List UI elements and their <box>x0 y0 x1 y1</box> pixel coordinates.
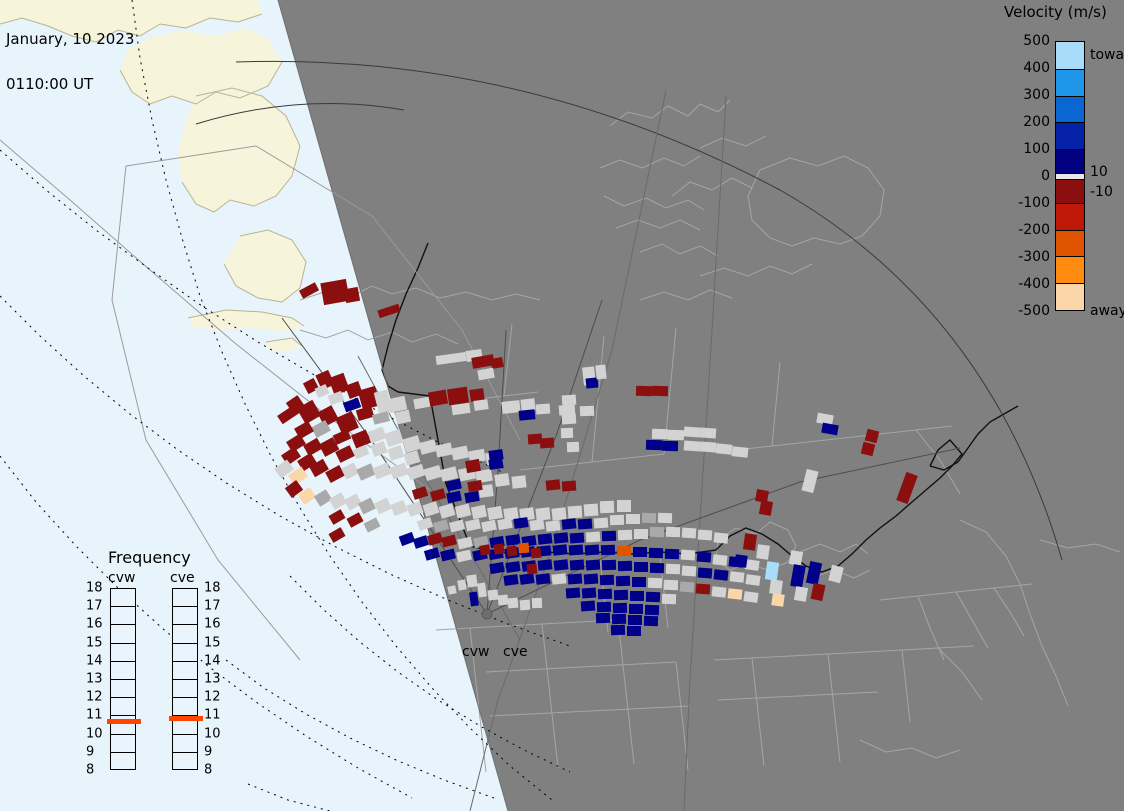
velocity-cell <box>666 564 680 574</box>
velocity-cell <box>447 387 469 406</box>
frequency-tick-right: 13 <box>204 672 221 687</box>
velocity-cell <box>668 430 684 441</box>
frequency-tick-left: 14 <box>86 653 103 668</box>
velocity-cell <box>610 515 624 525</box>
colorbar-tick-label: 400 <box>1023 60 1050 76</box>
velocity-cell <box>714 569 729 580</box>
colorbar-tick-label: 300 <box>1023 87 1050 103</box>
velocity-cell <box>568 574 583 585</box>
frequency-bar-segment <box>111 644 135 662</box>
velocity-cell <box>562 518 577 529</box>
velocity-cell <box>713 554 728 565</box>
velocity-cell <box>519 543 530 554</box>
velocity-cell <box>618 530 632 540</box>
velocity-cell <box>646 592 660 602</box>
velocity-cell <box>552 573 567 584</box>
frequency-tick-right: 8 <box>204 763 212 778</box>
velocity-cell <box>538 533 553 544</box>
velocity-cell <box>771 593 785 607</box>
velocity-cell <box>527 564 538 575</box>
velocity-cell <box>578 519 593 530</box>
frequency-bar-cvw <box>110 588 136 770</box>
velocity-cell <box>520 600 531 611</box>
colorbar-band <box>1056 230 1084 257</box>
colorbar-band <box>1056 42 1084 69</box>
frequency-tick-right: 16 <box>204 617 221 632</box>
timestamp-block: January, 10 2023 0110:00 UT <box>6 2 134 122</box>
velocity-cell <box>596 613 610 623</box>
colorbar-tick-label: -500 <box>1018 303 1050 319</box>
frequency-tick-right: 12 <box>204 690 221 705</box>
velocity-cell <box>684 440 701 451</box>
velocity-cell <box>540 438 555 449</box>
velocity-cell <box>488 590 499 601</box>
frequency-bar-segment <box>173 662 197 680</box>
frequency-bar-segment <box>173 735 197 753</box>
timestamp-date: January, 10 2023 <box>6 32 134 47</box>
colorbar-tick-label: -300 <box>1018 249 1050 265</box>
velocity-cell <box>479 544 491 556</box>
velocity-cell <box>697 552 712 563</box>
frequency-tick-left: 8 <box>86 763 94 778</box>
velocity-cell <box>535 507 550 520</box>
velocity-cell <box>598 589 612 599</box>
colorbar-band <box>1056 179 1084 203</box>
velocity-cell <box>616 576 630 586</box>
velocity-cell <box>586 560 601 571</box>
frequency-bar-segment <box>111 735 135 753</box>
velocity-cell <box>614 590 628 600</box>
velocity-cell <box>765 561 779 580</box>
colorbar-tick-label: 500 <box>1023 33 1050 49</box>
velocity-cell <box>617 546 631 556</box>
velocity-cell <box>700 427 717 438</box>
velocity-cell <box>570 560 585 571</box>
frequency-tick-left: 13 <box>86 672 103 687</box>
velocity-cell <box>662 441 678 452</box>
velocity-cell <box>488 449 503 461</box>
velocity-cell <box>594 518 609 529</box>
colorbar-band <box>1056 149 1084 173</box>
velocity-cell <box>714 532 729 543</box>
frequency-tick-left: 15 <box>86 635 103 650</box>
velocity-cell <box>562 395 577 406</box>
velocity-cell <box>581 601 596 612</box>
frequency-tick-left: 10 <box>86 726 103 741</box>
velocity-cell <box>501 400 520 414</box>
radar-site-marker <box>482 609 492 619</box>
velocity-cell <box>503 574 518 586</box>
frequency-tick-right: 10 <box>204 726 221 741</box>
frequency-bar-segment <box>111 607 135 625</box>
velocity-cell <box>585 545 600 556</box>
frequency-column-name-cvw: cvw <box>108 570 135 586</box>
frequency-bar-segment <box>111 753 135 771</box>
velocity-cell <box>684 426 701 437</box>
velocity-cell <box>529 519 544 531</box>
velocity-cell <box>511 475 526 488</box>
frequency-tick-right: 18 <box>204 581 221 596</box>
frequency-tick-right: 11 <box>204 708 221 723</box>
frequency-bar-segment <box>173 753 197 771</box>
velocity-cell <box>569 545 584 556</box>
frequency-marker-cvw <box>107 719 141 724</box>
velocity-cell <box>626 514 640 524</box>
frequency-bar-segment <box>111 698 135 716</box>
velocity-cell <box>634 529 648 539</box>
colorbar-band <box>1056 69 1084 96</box>
velocity-cell <box>519 409 536 421</box>
frequency-column-name-cve: cve <box>170 570 195 586</box>
velocity-cell <box>794 586 808 602</box>
velocity-cell <box>743 533 757 551</box>
velocity-cell <box>664 580 678 590</box>
velocity-cell <box>728 588 743 599</box>
colorbar-tick-label: -100 <box>1018 195 1050 211</box>
velocity-cell <box>716 443 733 455</box>
velocity-cell <box>636 386 652 397</box>
frequency-legend: Frequency cvw cve 1818171716161515141413… <box>80 548 250 788</box>
velocity-cell <box>561 428 573 438</box>
velocity-cell <box>457 579 467 590</box>
velocity-cell <box>600 501 614 513</box>
velocity-cell <box>680 582 695 593</box>
frequency-bar-segment <box>173 698 197 716</box>
frequency-tick-left: 12 <box>86 690 103 705</box>
velocity-cell <box>700 441 717 452</box>
velocity-cell <box>681 550 696 561</box>
velocity-cell <box>634 562 648 572</box>
velocity-cell <box>568 506 583 519</box>
velocity-cell <box>508 598 519 609</box>
velocity-cell <box>595 365 606 380</box>
colorbar-band <box>1056 122 1084 149</box>
velocity-cell <box>584 504 599 517</box>
frequency-tick-right: 15 <box>204 635 221 650</box>
velocity-cell <box>551 507 566 520</box>
velocity-cell <box>755 489 769 503</box>
velocity-cell <box>487 506 503 520</box>
velocity-cell <box>597 602 611 612</box>
velocity-cell <box>617 500 631 512</box>
velocity-cell <box>546 520 561 531</box>
velocity-cell <box>666 527 680 537</box>
velocity-cell <box>646 440 662 451</box>
velocity-cell <box>662 594 676 604</box>
frequency-tick-right: 17 <box>204 599 221 614</box>
velocity-cell <box>627 626 641 636</box>
velocity-cell <box>632 577 646 587</box>
velocity-cell <box>633 547 647 557</box>
velocity-cell <box>584 574 599 585</box>
velocity-cell <box>618 561 632 571</box>
velocity-cell <box>562 481 577 492</box>
velocity-cell <box>602 560 616 570</box>
colorbar-title: Velocity (m/s) <box>1004 3 1124 21</box>
colorbar-tick-label: 100 <box>1023 141 1050 157</box>
frequency-bar-cve <box>172 588 198 770</box>
colorbar-tick-label: 200 <box>1023 114 1050 130</box>
velocity-cell <box>652 386 668 397</box>
frequency-tick-left: 9 <box>86 744 94 759</box>
colorbar-gradient <box>1055 41 1085 311</box>
velocity-cell <box>756 544 770 560</box>
velocity-cell <box>712 586 727 597</box>
frequency-tick-left: 16 <box>86 617 103 632</box>
colorbar-band <box>1056 203 1084 230</box>
velocity-cell <box>490 357 504 369</box>
frequency-bar-segment <box>173 680 197 698</box>
velocity-cell <box>506 545 517 556</box>
velocity-cell <box>553 544 568 555</box>
frequency-tick-left: 11 <box>86 708 103 723</box>
frequency-bar-segment <box>173 607 197 625</box>
velocity-cell <box>493 543 504 554</box>
velocity-cell <box>531 548 542 559</box>
frequency-marker-cve <box>169 716 203 721</box>
velocity-cell <box>682 528 697 539</box>
velocity-cell <box>600 575 614 585</box>
colorbar-away-label: away <box>1090 303 1124 319</box>
velocity-cell <box>505 561 520 573</box>
velocity-cell <box>601 545 615 555</box>
radar-map-stage: January, 10 2023 0110:00 UT Velocity (m/… <box>0 0 1124 811</box>
colorbar-toward-label: toward <box>1090 47 1124 63</box>
colorbar-positive-threshold: 10 <box>1090 164 1108 180</box>
velocity-cell <box>665 549 679 559</box>
frequency-tick-left: 17 <box>86 599 103 614</box>
velocity-cell <box>629 604 643 614</box>
velocity-cell <box>630 591 644 601</box>
velocity-cell <box>494 473 510 487</box>
velocity-cell <box>743 591 758 603</box>
frequency-legend-title: Frequency <box>108 548 191 567</box>
velocity-cell <box>562 414 577 425</box>
frequency-tick-right: 9 <box>204 744 212 759</box>
velocity-cell <box>628 615 642 625</box>
velocity-cell <box>513 517 528 529</box>
frequency-bar-segment <box>173 644 197 662</box>
velocity-cell <box>644 616 658 626</box>
velocity-cell <box>645 605 659 615</box>
velocity-cell <box>344 287 360 303</box>
timestamp-time: 0110:00 UT <box>6 77 134 92</box>
frequency-bar-segment <box>111 662 135 680</box>
frequency-bar-segment <box>111 589 135 607</box>
site-label-cvw: cvw <box>462 644 489 660</box>
velocity-cell <box>554 559 569 570</box>
velocity-cell <box>538 559 553 570</box>
frequency-tick-right: 14 <box>204 653 221 668</box>
velocity-cell <box>652 429 668 440</box>
velocity-cell <box>582 588 597 599</box>
frequency-bar-segment <box>173 625 197 643</box>
velocity-cell <box>498 595 509 606</box>
velocity-cell <box>505 534 520 546</box>
velocity-cell <box>650 563 664 573</box>
frequency-bar-segment <box>111 625 135 643</box>
velocity-cell <box>466 574 478 587</box>
velocity-cell <box>586 377 599 388</box>
colorbar-tick-label: -400 <box>1018 276 1050 292</box>
velocity-colorbar: Velocity (m/s) 5004003002001000-100-200-… <box>1000 0 1124 330</box>
velocity-cell <box>566 588 581 599</box>
velocity-cell <box>554 532 569 543</box>
velocity-cell <box>567 442 579 452</box>
velocity-cell <box>612 614 626 624</box>
frequency-bar-segment <box>111 680 135 698</box>
velocity-cell <box>732 446 749 458</box>
velocity-cell <box>642 513 656 523</box>
velocity-cell <box>730 571 745 582</box>
colorbar-band <box>1056 283 1084 310</box>
velocity-cell <box>391 396 408 413</box>
velocity-cell <box>789 550 803 566</box>
velocity-cell <box>745 574 760 586</box>
colorbar-tick-label: 0 <box>1041 168 1050 184</box>
velocity-cell <box>473 399 488 411</box>
velocity-cell <box>580 406 594 416</box>
velocity-cell <box>465 459 481 473</box>
velocity-cell <box>648 578 662 588</box>
colorbar-tick-label: -200 <box>1018 222 1050 238</box>
velocity-cell <box>519 573 534 585</box>
colorbar-band <box>1056 256 1084 283</box>
velocity-cell <box>546 479 561 490</box>
velocity-cell <box>536 404 551 415</box>
velocity-cell <box>570 533 585 544</box>
velocity-cell <box>613 603 627 613</box>
velocity-cell <box>586 532 601 543</box>
colorbar-negative-threshold: -10 <box>1090 184 1113 200</box>
velocity-cell <box>698 530 713 541</box>
frequency-bar-segment <box>173 589 197 607</box>
velocity-cell <box>602 531 616 541</box>
site-label-cve: cve <box>503 644 528 660</box>
velocity-cell <box>532 598 542 608</box>
velocity-cell <box>698 568 713 579</box>
velocity-cell <box>696 584 711 595</box>
velocity-cell <box>649 548 663 558</box>
velocity-cell <box>611 625 625 635</box>
velocity-cell <box>682 566 697 577</box>
velocity-cell <box>769 579 783 595</box>
colorbar-band <box>1056 96 1084 123</box>
velocity-cell <box>650 527 664 537</box>
velocity-cell <box>536 573 551 584</box>
velocity-cell <box>447 585 456 594</box>
velocity-cell <box>658 513 672 523</box>
frequency-tick-left: 18 <box>86 581 103 596</box>
velocity-cell <box>734 554 748 568</box>
